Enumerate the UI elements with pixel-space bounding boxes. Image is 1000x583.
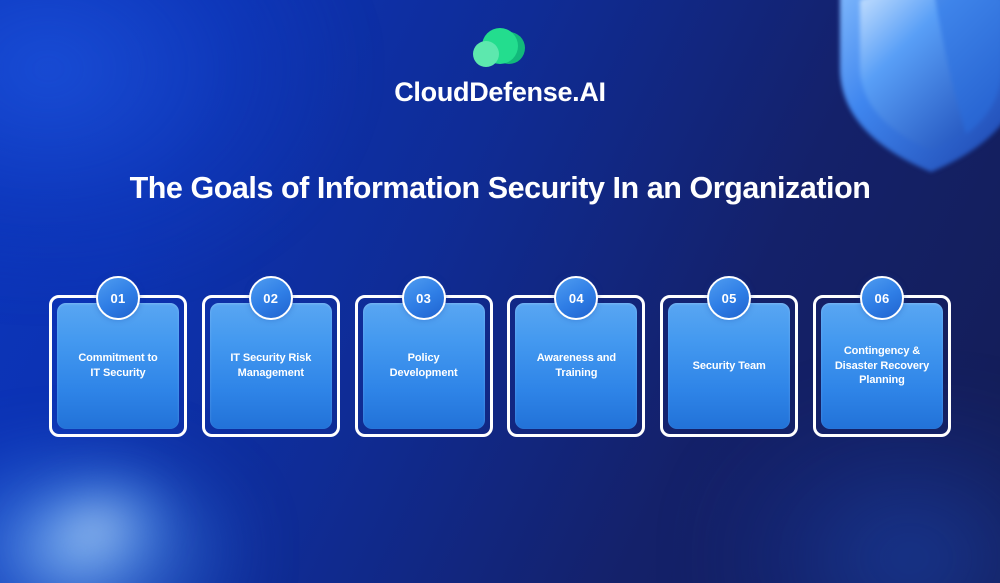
card-number-badge: 04 xyxy=(554,276,598,320)
card-panel: Contingency & Disaster Recovery Planning xyxy=(821,303,943,429)
card-label: IT Security Risk Management xyxy=(230,351,311,380)
card-number: 01 xyxy=(110,292,125,305)
card-number: 06 xyxy=(874,292,889,305)
card-label: Contingency & Disaster Recovery Planning xyxy=(835,344,929,388)
card-panel: IT Security Risk Management xyxy=(210,303,332,429)
infographic-canvas: CloudDefense.AI The Goals of Information… xyxy=(0,0,1000,583)
card-number-badge: 02 xyxy=(249,276,293,320)
card-number: 04 xyxy=(569,292,584,305)
cloud-logo-icon xyxy=(469,26,531,70)
card-number-badge: 01 xyxy=(96,276,140,320)
glow-blob-bottom-left-highlight xyxy=(0,447,194,583)
brand-wordmark: CloudDefense.AI xyxy=(394,79,606,106)
card-number: 02 xyxy=(263,292,278,305)
card-label: Commitment to IT Security xyxy=(78,351,157,380)
card-label: Awareness and Training xyxy=(537,351,616,380)
goal-card-01[interactable]: Commitment to IT Security 01 xyxy=(48,276,188,438)
card-panel: Security Team xyxy=(668,303,790,429)
card-panel: Policy Development xyxy=(363,303,485,429)
card-number-badge: 03 xyxy=(402,276,446,320)
card-number: 05 xyxy=(722,292,737,305)
card-panel: Awareness and Training xyxy=(515,303,637,429)
goal-card-06[interactable]: Contingency & Disaster Recovery Planning… xyxy=(812,276,952,438)
card-number-badge: 05 xyxy=(707,276,751,320)
card-number-badge: 06 xyxy=(860,276,904,320)
page-title: The Goals of Information Security In an … xyxy=(0,172,1000,206)
card-number: 03 xyxy=(416,292,431,305)
card-label: Policy Development xyxy=(390,351,458,380)
goal-card-04[interactable]: Awareness and Training 04 xyxy=(506,276,646,438)
glow-blob-bottom-left xyxy=(0,425,260,583)
goal-card-02[interactable]: IT Security Risk Management 02 xyxy=(201,276,341,438)
brand-logo: CloudDefense.AI xyxy=(0,26,1000,106)
goals-card-row: Commitment to IT Security 01 IT Security… xyxy=(48,276,952,438)
goal-card-05[interactable]: Security Team 05 xyxy=(659,276,799,438)
card-label: Security Team xyxy=(693,359,766,374)
card-panel: Commitment to IT Security xyxy=(57,303,179,429)
goal-card-03[interactable]: Policy Development 03 xyxy=(354,276,494,438)
